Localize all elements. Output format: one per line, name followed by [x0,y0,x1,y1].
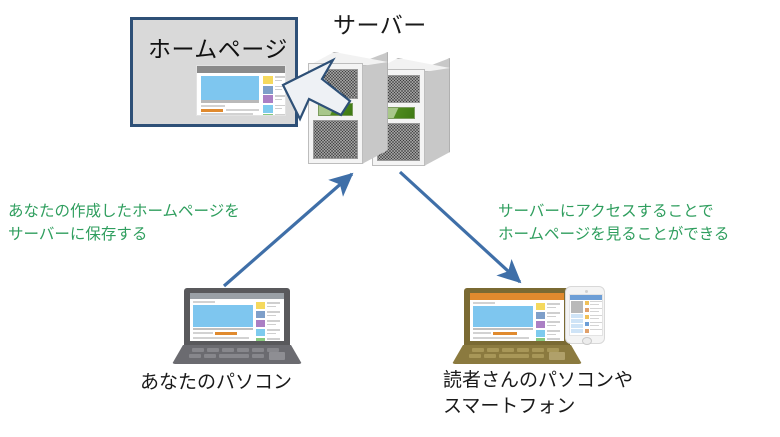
mock-thumb-line [590,325,599,326]
mock-thumb-line [275,76,285,78]
server-side-face [362,52,388,164]
laptop-key [517,348,529,352]
laptop-key [222,348,234,352]
mock-thumb [536,330,545,337]
mock-hero-image [201,76,259,100]
laptop-key [469,354,481,358]
mock-thumb [585,301,589,305]
laptop-key-space [499,354,529,358]
mock-thumb [585,329,589,333]
mock-thumb-line [275,99,282,100]
mock-thumb-line [267,320,280,322]
mock-thumb-line [547,325,556,326]
mock-thumb-line [547,312,560,314]
mock-thumb [263,76,273,84]
webpage-mockup-your-laptop [190,293,284,341]
laptop-key [207,348,219,352]
mock-text-line [193,337,249,339]
your-pc-label: あなたのパソコン [140,370,292,396]
mock-thumb-line [590,301,602,302]
mock-thumb [585,322,589,326]
server-side-face [424,58,450,166]
mock-thumb-line [267,315,276,316]
mock-thumb-line [547,330,560,332]
mock-thumb [256,311,265,318]
laptop-screen [190,293,284,341]
mock-text-line [226,109,259,111]
mock-thumb-line [275,89,282,90]
mock-thumb [256,329,265,336]
mock-thumb-line [275,95,285,97]
mock-hero-base [201,100,259,103]
mock-topbar [190,293,284,299]
reader-laptop [452,288,582,364]
laptop-key [204,354,216,358]
mock-topbar [197,66,285,73]
mock-text-line [473,332,491,334]
mock-thumb-line [275,80,282,81]
laptop-key [484,354,496,358]
mock-thumb [536,303,545,310]
mock-thumb-line [590,315,602,316]
mock-block [571,329,583,333]
webpage-mockup-reader-laptop [470,293,564,341]
mock-thumb [536,338,545,341]
mock-thumb-line [590,322,602,323]
server-grill-lower [313,120,358,159]
mock-thumb [256,338,265,341]
mock-thumb-line [275,105,285,107]
laptop-key [487,348,499,352]
mock-text-line [193,332,213,334]
diagram-canvas: ホームページ サーバー [0,0,780,437]
mock-thumb-line [275,114,285,116]
mock-thumb [585,315,589,319]
webpage-mockup-box [196,65,286,116]
mock-thumb [256,320,265,327]
mock-thumb-line [547,303,560,305]
mock-thumb-line [547,338,560,340]
your-laptop [172,288,302,364]
laptop-key [252,354,264,358]
upload-caption: あなたの作成したホームページを サーバーに保存する [8,200,240,247]
mock-thumb-line [547,307,556,308]
mock-thumb-line [267,338,280,340]
mock-thumb [536,312,545,319]
mock-thumb-line [547,334,556,335]
reader-pc-label: 読者さんのパソコンや スマートフォン [443,368,633,419]
mock-block [571,319,583,323]
mock-thumb [263,105,273,113]
mock-thumb [256,302,265,309]
server-status-panel [318,103,353,116]
mock-hero-image [473,306,533,327]
mock-thumb-line [590,311,599,312]
upload-caption-line1: あなたの作成したホームページを [8,200,240,223]
mock-block [571,324,583,328]
mock-thumb-line [267,311,280,313]
mock-hero-base [193,328,253,330]
tablet-camera-icon [585,290,588,293]
laptop-key [237,348,249,352]
mock-accent-bar [201,109,223,112]
mock-thumb-line [267,329,280,331]
mock-thumb-line [267,333,276,334]
mock-text-line [473,337,529,339]
mock-thumb-line [275,86,285,88]
mock-block [571,314,583,318]
mock-thumb [263,95,273,103]
laptop-key-space [219,354,249,358]
laptop-key [532,354,544,358]
laptop-key [502,348,514,352]
reader-pc-label-line2: スマートフォン [443,394,633,420]
mock-thumb-line [590,304,599,305]
mock-thumb-line [275,108,282,109]
mock-hero-base [473,328,533,330]
laptop-screen [470,293,564,341]
mock-accent-bar [493,332,517,335]
mock-text-line [201,105,225,107]
mock-thumb-line [590,308,602,309]
laptop-key [252,348,264,352]
upload-caption-line2: サーバーに保存する [8,223,240,246]
tablet-home-button [582,337,592,345]
mock-text-line [201,113,253,115]
mock-thumb-line [590,329,602,330]
mock-thumb-line [267,302,280,304]
mock-hero-image [193,305,253,327]
laptop-touchpad [549,352,565,360]
mock-text-line [193,301,215,303]
reader-pc-label-line1: 読者さんのパソコンや [443,368,633,394]
mock-thumb-line [267,324,276,325]
mock-thumb-line [547,316,556,317]
view-caption: サーバーにアクセスすることで ホームページを見ることができる [498,200,729,247]
mock-thumb [585,308,589,312]
mock-topbar [470,293,564,300]
mock-hero-image [571,301,583,313]
view-caption-line2: ホームページを見ることができる [498,223,729,246]
mock-thumb [536,321,545,328]
laptop-key [532,348,544,352]
laptop-key [189,354,201,358]
mock-accent-bar [215,332,237,335]
tablet-screen [569,294,603,336]
mock-thumb-line [590,318,599,319]
homepage-box-title: ホームページ [148,30,288,64]
laptop-touchpad [269,352,285,360]
laptop-key [472,348,484,352]
server-title: サーバー [333,6,427,40]
mock-thumb-line [267,306,276,307]
mock-thumb-line [547,321,560,323]
reader-tablet [565,286,605,344]
laptop-key [192,348,204,352]
upload-arrow-icon [224,174,352,286]
server-grill-upper [313,69,358,99]
server-tower-1 [308,52,388,164]
mock-thumb [263,114,273,116]
mock-topbar [570,295,602,300]
mock-text-line [473,302,495,304]
mock-thumb [263,86,273,94]
view-caption-line1: サーバーにアクセスすることで [498,200,729,223]
